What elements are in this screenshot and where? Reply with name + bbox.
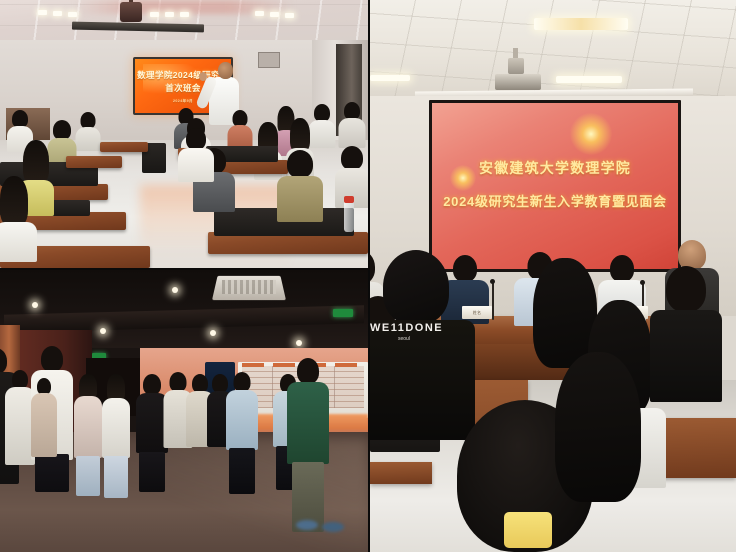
ceiling-light	[165, 12, 174, 17]
student-head	[287, 150, 313, 178]
student-body	[74, 396, 102, 458]
student-head	[23, 140, 49, 184]
faculty-head	[234, 372, 251, 392]
audience-desk	[656, 418, 736, 478]
student-body	[178, 148, 214, 182]
ceiling-light	[53, 11, 62, 16]
microphone-head	[490, 279, 495, 284]
student-head	[41, 346, 63, 372]
ceiling-projector	[120, 2, 142, 22]
ceiling-light-panel	[370, 75, 410, 81]
name-placard: 姓名	[462, 306, 492, 319]
ceiling-projector	[495, 74, 541, 90]
student-head	[186, 128, 206, 150]
ceiling-light	[285, 13, 294, 18]
presenter-head	[218, 62, 233, 79]
student-shorts	[139, 452, 165, 492]
track-spotlight	[32, 302, 38, 308]
student-body	[277, 176, 323, 222]
presenter-hand	[199, 72, 207, 81]
microphone-head	[640, 280, 645, 285]
shirt-sub-text: seoul	[398, 336, 410, 342]
student-pants	[76, 456, 100, 496]
air-conditioner-grill	[222, 280, 276, 294]
student-body	[102, 398, 130, 458]
faculty-body	[226, 390, 258, 450]
panel-member-head	[610, 255, 634, 282]
exhibition-hall-group-photo	[0, 270, 368, 552]
ceiling-light	[38, 10, 47, 15]
projection-screen: 安徽建筑大学数理学院 2024级研究生新生入学教育暨见面会	[432, 103, 678, 269]
yellow-bag	[504, 512, 552, 548]
ceiling-light	[180, 12, 189, 17]
ceiling-light-panel	[534, 18, 628, 30]
classroom-desk	[100, 142, 148, 152]
shoe	[296, 520, 318, 530]
faculty-body	[287, 382, 329, 464]
bottle-cap	[344, 196, 354, 203]
projector-mount	[508, 58, 524, 74]
student-body	[76, 127, 101, 151]
audience-head	[555, 352, 641, 502]
shoe	[322, 522, 344, 532]
ceiling-light	[270, 12, 279, 17]
student-head	[290, 118, 310, 152]
student-head	[0, 176, 28, 226]
student-pants	[104, 456, 128, 498]
ceiling-light	[255, 11, 264, 16]
student-shorts	[35, 454, 69, 492]
shirt-brand-text: WE11DONE	[370, 322, 443, 334]
faculty-head	[297, 358, 319, 384]
student-head	[143, 374, 161, 395]
audience-body	[650, 310, 722, 402]
ceiling-light	[150, 12, 159, 17]
wall-vent	[258, 52, 280, 68]
faculty-trousers	[229, 448, 255, 494]
ceiling-light-panel	[556, 76, 622, 83]
photo-collage: 数理学院2024级研究生 首次班会 2024年9月	[0, 0, 736, 552]
track-spotlight	[172, 287, 178, 293]
ceiling-light	[68, 12, 77, 17]
ceiling-tile-grid	[370, 0, 736, 100]
lecture-hall-classroom-photo: 数理学院2024级研究生 首次班会 2024年9月	[0, 0, 368, 268]
student-body	[31, 393, 57, 457]
audience-desk	[370, 462, 432, 484]
student-body	[309, 120, 336, 148]
student-head	[341, 146, 363, 170]
track-spotlight	[210, 330, 216, 336]
exit-sign-icon	[333, 309, 353, 317]
meeting-room-orientation-photo: 安徽建筑大学数理学院 2024级研究生新生入学教育暨见面会	[370, 0, 736, 552]
track-spotlight	[100, 328, 106, 334]
sparkle-decoration	[570, 113, 612, 155]
screen-title-line2: 2024级研究生新生入学教育暨见面会	[432, 191, 678, 210]
student-head	[170, 372, 187, 392]
desk-microphone	[492, 282, 494, 320]
track-spotlight	[296, 340, 302, 346]
audience-body	[370, 320, 475, 440]
screen-title-line1: 安徽建筑大学数理学院	[432, 158, 678, 178]
classroom-desk	[66, 156, 122, 168]
audience-head	[666, 266, 706, 312]
panel-member-head	[453, 255, 477, 282]
audience-head	[383, 250, 449, 324]
student-body	[339, 118, 366, 148]
student-head	[53, 120, 71, 140]
student-body	[0, 222, 37, 262]
placard-text: 姓名	[462, 306, 492, 319]
